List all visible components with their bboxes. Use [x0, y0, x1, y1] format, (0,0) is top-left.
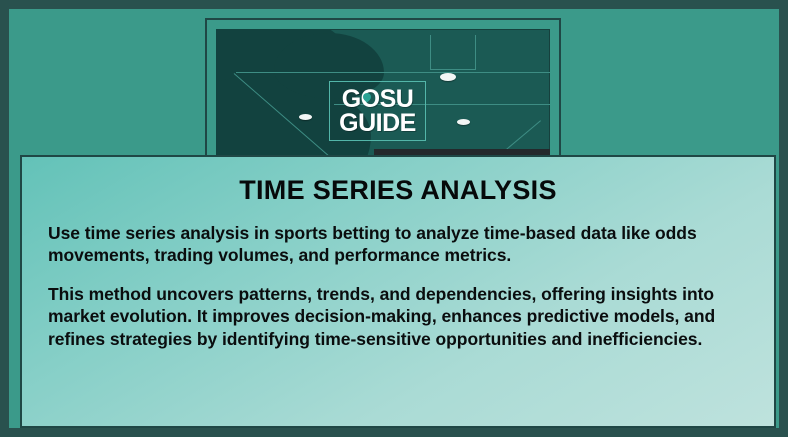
gosu-guide-logo-line2: GUIDE [339, 111, 416, 135]
page-title: TIME SERIES ANALYSIS [48, 175, 748, 206]
gosu-guide-logo-line1: GOSU [342, 87, 414, 111]
goal-box-outline [430, 35, 476, 70]
paragraph-intro: Use time series analysis in sports betti… [48, 222, 748, 267]
player-marker [299, 114, 312, 120]
paragraph-details: This method uncovers patterns, trends, a… [48, 283, 748, 350]
player-marker [440, 73, 456, 81]
content-panel: TIME SERIES ANALYSIS Use time series ana… [20, 155, 776, 428]
pitch-line-horizontal [236, 72, 550, 73]
gosu-guide-logo: GOSU GUIDE [329, 81, 426, 141]
player-marker [457, 119, 470, 125]
slide-canvas: GOSU GUIDE GOSUBETTING TIME SERIES ANALY… [0, 0, 788, 437]
